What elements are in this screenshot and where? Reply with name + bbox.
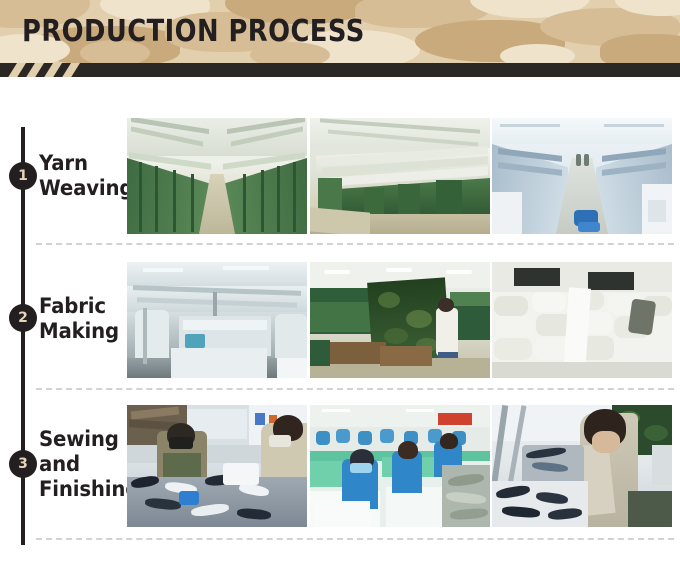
page-title: PRODUCTION PROCESS bbox=[22, 14, 365, 50]
process-step-row-1: 1 Yarn Weaving bbox=[0, 118, 680, 234]
step-label-line: Making bbox=[39, 319, 119, 344]
step-label-line: Weaving bbox=[39, 176, 133, 201]
photo-yarn-weaving-2[interactable] bbox=[310, 118, 490, 234]
process-step-row-3: 3 Sewing and Finishing bbox=[0, 405, 680, 527]
step-number-badge-1: 1 bbox=[9, 162, 37, 190]
step-label-line: Fabric bbox=[39, 294, 119, 319]
row-separator-3 bbox=[36, 538, 674, 540]
photo-sewing-2[interactable] bbox=[310, 405, 490, 527]
photo-fabric-making-2[interactable] bbox=[310, 262, 490, 378]
step-number-badge-2: 2 bbox=[9, 304, 37, 332]
row-separator-2 bbox=[36, 388, 674, 390]
photo-fabric-making-1[interactable] bbox=[127, 262, 307, 378]
photo-fabric-making-3[interactable] bbox=[492, 262, 672, 378]
photo-yarn-weaving-3[interactable] bbox=[492, 118, 672, 234]
photo-sewing-1[interactable] bbox=[127, 405, 307, 527]
step-label-line: Sewing bbox=[39, 427, 139, 452]
step-label-1: Yarn Weaving bbox=[39, 151, 133, 201]
process-step-row-2: 2 Fabric Making bbox=[0, 262, 680, 378]
production-process-page: PRODUCTION PROCESS 1 Yarn Weaving bbox=[0, 0, 680, 581]
step-label-line: and bbox=[39, 452, 139, 477]
header-accent-bar bbox=[0, 63, 680, 77]
step-label-2: Fabric Making bbox=[39, 294, 119, 344]
step-label-line: Finishing bbox=[39, 477, 139, 502]
photo-sewing-3[interactable] bbox=[492, 405, 672, 527]
photo-yarn-weaving-1[interactable] bbox=[127, 118, 307, 234]
row-separator-1 bbox=[36, 243, 674, 245]
step-label-line: Yarn bbox=[39, 151, 133, 176]
page-header: PRODUCTION PROCESS bbox=[0, 0, 680, 63]
step-label-3: Sewing and Finishing bbox=[39, 427, 139, 502]
step-number-badge-3: 3 bbox=[9, 450, 37, 478]
